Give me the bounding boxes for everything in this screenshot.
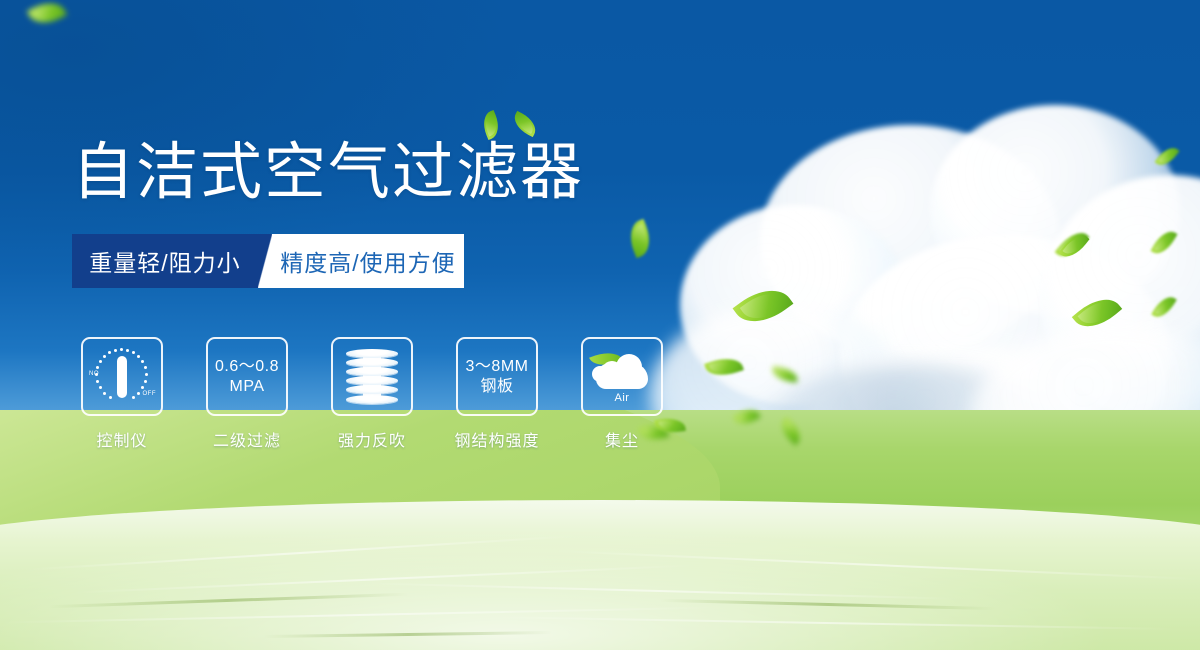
product-banner: 自洁式空气过滤器 重量轻/阻力小 精度高/使用方便 bbox=[0, 0, 1200, 650]
tagline-banner: 重量轻/阻力小 精度高/使用方便 bbox=[72, 234, 464, 288]
tagline-right: 精度高/使用方便 bbox=[272, 234, 464, 288]
tagline-divider bbox=[258, 234, 272, 288]
steel-text-icon: 3～8MM 钢板 bbox=[466, 357, 529, 397]
feature-label: 强力反吹 bbox=[338, 427, 406, 451]
grass-highlight bbox=[0, 500, 1200, 650]
feature-item-blowback[interactable]: 强力反吹 bbox=[331, 337, 413, 451]
feature-label: 控制仪 bbox=[96, 427, 147, 451]
feature-item-steel[interactable]: 3～8MM 钢板 钢结构强度 bbox=[456, 337, 538, 451]
filter-stack-icon bbox=[346, 349, 398, 405]
feature-item-control[interactable]: NO OFF 控制仪 bbox=[81, 337, 163, 451]
gauge-off-label: OFF bbox=[143, 391, 157, 397]
feature-icon-box bbox=[331, 337, 413, 416]
air-cloud-icon: Air bbox=[592, 353, 652, 401]
feature-list: NO OFF 控制仪 0.6～0.8 MPA 二级过滤 bbox=[81, 337, 663, 451]
feature-item-pressure[interactable]: 0.6～0.8 MPA 二级过滤 bbox=[206, 337, 288, 451]
gauge-no-label: NO bbox=[89, 371, 99, 377]
gauge-needle bbox=[117, 356, 127, 398]
feature-icon-box: 3～8MM 钢板 bbox=[456, 337, 538, 416]
page-title: 自洁式空气过滤器 bbox=[72, 142, 584, 204]
feature-icon-box: 0.6～0.8 MPA bbox=[206, 337, 288, 416]
feature-icon-box: Air bbox=[581, 337, 663, 416]
tagline-left: 重量轻/阻力小 bbox=[72, 234, 258, 288]
feature-label: 二级过滤 bbox=[213, 427, 281, 451]
feature-label: 集尘 bbox=[605, 427, 639, 451]
air-label: Air bbox=[592, 392, 652, 404]
feature-icon-box: NO OFF bbox=[81, 337, 163, 416]
feature-item-dust[interactable]: Air 集尘 bbox=[581, 337, 663, 451]
gauge-icon: NO OFF bbox=[90, 347, 154, 407]
feature-label: 钢结构强度 bbox=[455, 427, 540, 451]
pressure-text-icon: 0.6～0.8 MPA bbox=[215, 357, 279, 397]
